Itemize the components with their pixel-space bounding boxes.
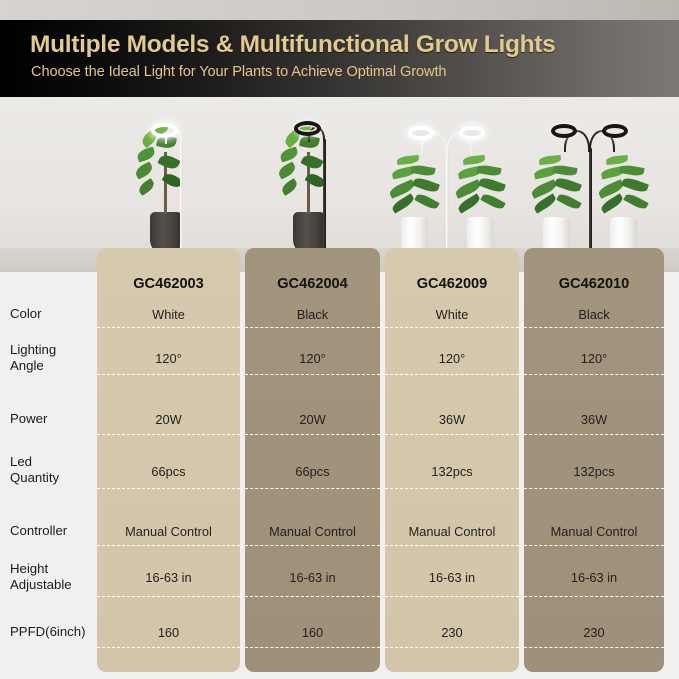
table-cell: 120° [385,351,519,366]
table-cell: 36W [524,412,664,427]
row-separator [385,545,519,546]
table-cell: Manual Control [97,524,240,539]
row-separator [97,596,240,597]
row-separator [524,647,664,648]
table-cell: 132pcs [385,464,519,479]
palm-frond-icon [476,164,501,177]
plant-leaf-icon [276,161,297,179]
table-cell: 16-63 in [385,570,519,585]
table-cell: 160 [97,625,240,640]
palm-frond-icon [397,155,420,165]
comparison-table: GC462003 GC462004 GC462009 GC462010 Colo… [0,248,679,679]
table-cell: 36W [385,412,519,427]
palm-frond-icon [480,192,505,211]
palm-frond-icon [554,176,582,194]
plant-leaf-icon [279,146,300,162]
ring-light-icon [602,124,628,138]
palm-frond-icon [539,155,562,165]
table-cell: 132pcs [524,464,664,479]
plant-leaf-icon [137,178,157,196]
table-cell: Manual Control [385,524,519,539]
table-cell: 20W [245,412,380,427]
table-cell: 66pcs [97,464,240,479]
infographic-page: Multiple Models & Multifunctional Grow L… [0,0,679,679]
row-label-line: Adjustable [10,577,96,593]
banner-title: Multiple Models & Multifunctional Grow L… [30,31,555,59]
product-image-gc462004 [245,97,380,272]
row-separator [385,488,519,489]
row-label-controller: Controller [10,523,96,539]
table-cell: Black [245,307,380,322]
row-label-line: Lighting [10,342,96,358]
table-cell: 66pcs [245,464,380,479]
table-header-model: GC462004 [245,276,380,292]
ring-light-icon [551,124,577,138]
table-header-model: GC462009 [385,276,519,292]
table-cell: 16-63 in [245,570,380,585]
palm-frond-icon [619,164,644,177]
row-separator [97,647,240,648]
table-header-model: GC462003 [97,276,240,292]
row-separator [245,327,380,328]
row-separator [245,647,380,648]
header-banner: Multiple Models & Multifunctional Grow L… [0,20,679,97]
row-separator [97,488,240,489]
product-image-gc462009 [385,97,519,272]
row-label-line: Led [10,454,96,470]
row-separator [97,374,240,375]
table-cell: 120° [245,351,380,366]
ring-light-icon [459,126,485,140]
row-separator [524,596,664,597]
table-cell: White [385,307,519,322]
palm-frond-icon [412,176,440,194]
plant-leaf-icon [300,152,323,172]
ring-light-icon [408,126,434,140]
table-cell: 230 [385,625,519,640]
banner-subtitle: Choose the Ideal Light for Your Plants t… [31,64,446,80]
palm-frond-icon [478,176,506,194]
table-cell: 16-63 in [97,570,240,585]
top-edge-strip [0,0,679,20]
row-label-led-quantity: Led Quantity [10,454,96,485]
row-separator [385,596,519,597]
row-separator [97,545,240,546]
plant-leaf-icon [157,152,180,172]
plant-leaf-icon [133,161,154,179]
row-label-lighting-angle: Lighting Angle [10,342,96,373]
palm-frond-icon [623,192,648,211]
palm-frond-icon [410,164,435,177]
row-separator [524,374,664,375]
row-separator [245,545,380,546]
row-separator [97,327,240,328]
table-cell: Manual Control [245,524,380,539]
row-separator [385,374,519,375]
row-separator [245,374,380,375]
plant-leaf-icon [136,146,157,162]
table-cell: 160 [245,625,380,640]
table-cell: 120° [97,351,240,366]
row-separator [524,488,664,489]
product-photo-strip [0,97,679,272]
row-label-line: Quantity [10,470,96,486]
ring-light-icon [294,121,321,136]
palm-frond-icon [621,176,649,194]
plant-leaf-icon [280,178,300,196]
row-separator [385,434,519,435]
product-image-gc462003 [97,97,240,272]
palm-frond-icon [556,192,581,211]
table-cell: Manual Control [524,524,664,539]
table-header-model: GC462010 [524,276,664,292]
row-separator [524,327,664,328]
row-separator [245,434,380,435]
product-image-gc462010 [524,97,664,272]
row-label-power: Power [10,411,96,427]
table-cell: 120° [524,351,664,366]
row-label-ppfd: PPFD(6inch) [10,624,104,640]
row-separator [385,647,519,648]
palm-frond-icon [606,155,629,165]
row-separator [524,434,664,435]
row-label-line: Angle [10,358,96,374]
table-cell: Black [524,307,664,322]
palm-frond-icon [414,192,439,211]
row-separator [97,434,240,435]
ring-light-icon [151,123,178,138]
palm-frond-icon [552,164,577,177]
table-cell: 230 [524,625,664,640]
row-separator [245,488,380,489]
table-cell: 20W [97,412,240,427]
row-label-color: Color [10,306,96,322]
row-label-height-adjustable: Height Adjustable [10,561,96,592]
row-separator [245,596,380,597]
table-cell: 16-63 in [524,570,664,585]
table-cell: White [97,307,240,322]
row-separator [524,545,664,546]
row-label-line: Height [10,561,96,577]
palm-frond-icon [463,155,486,165]
row-separator [385,327,519,328]
